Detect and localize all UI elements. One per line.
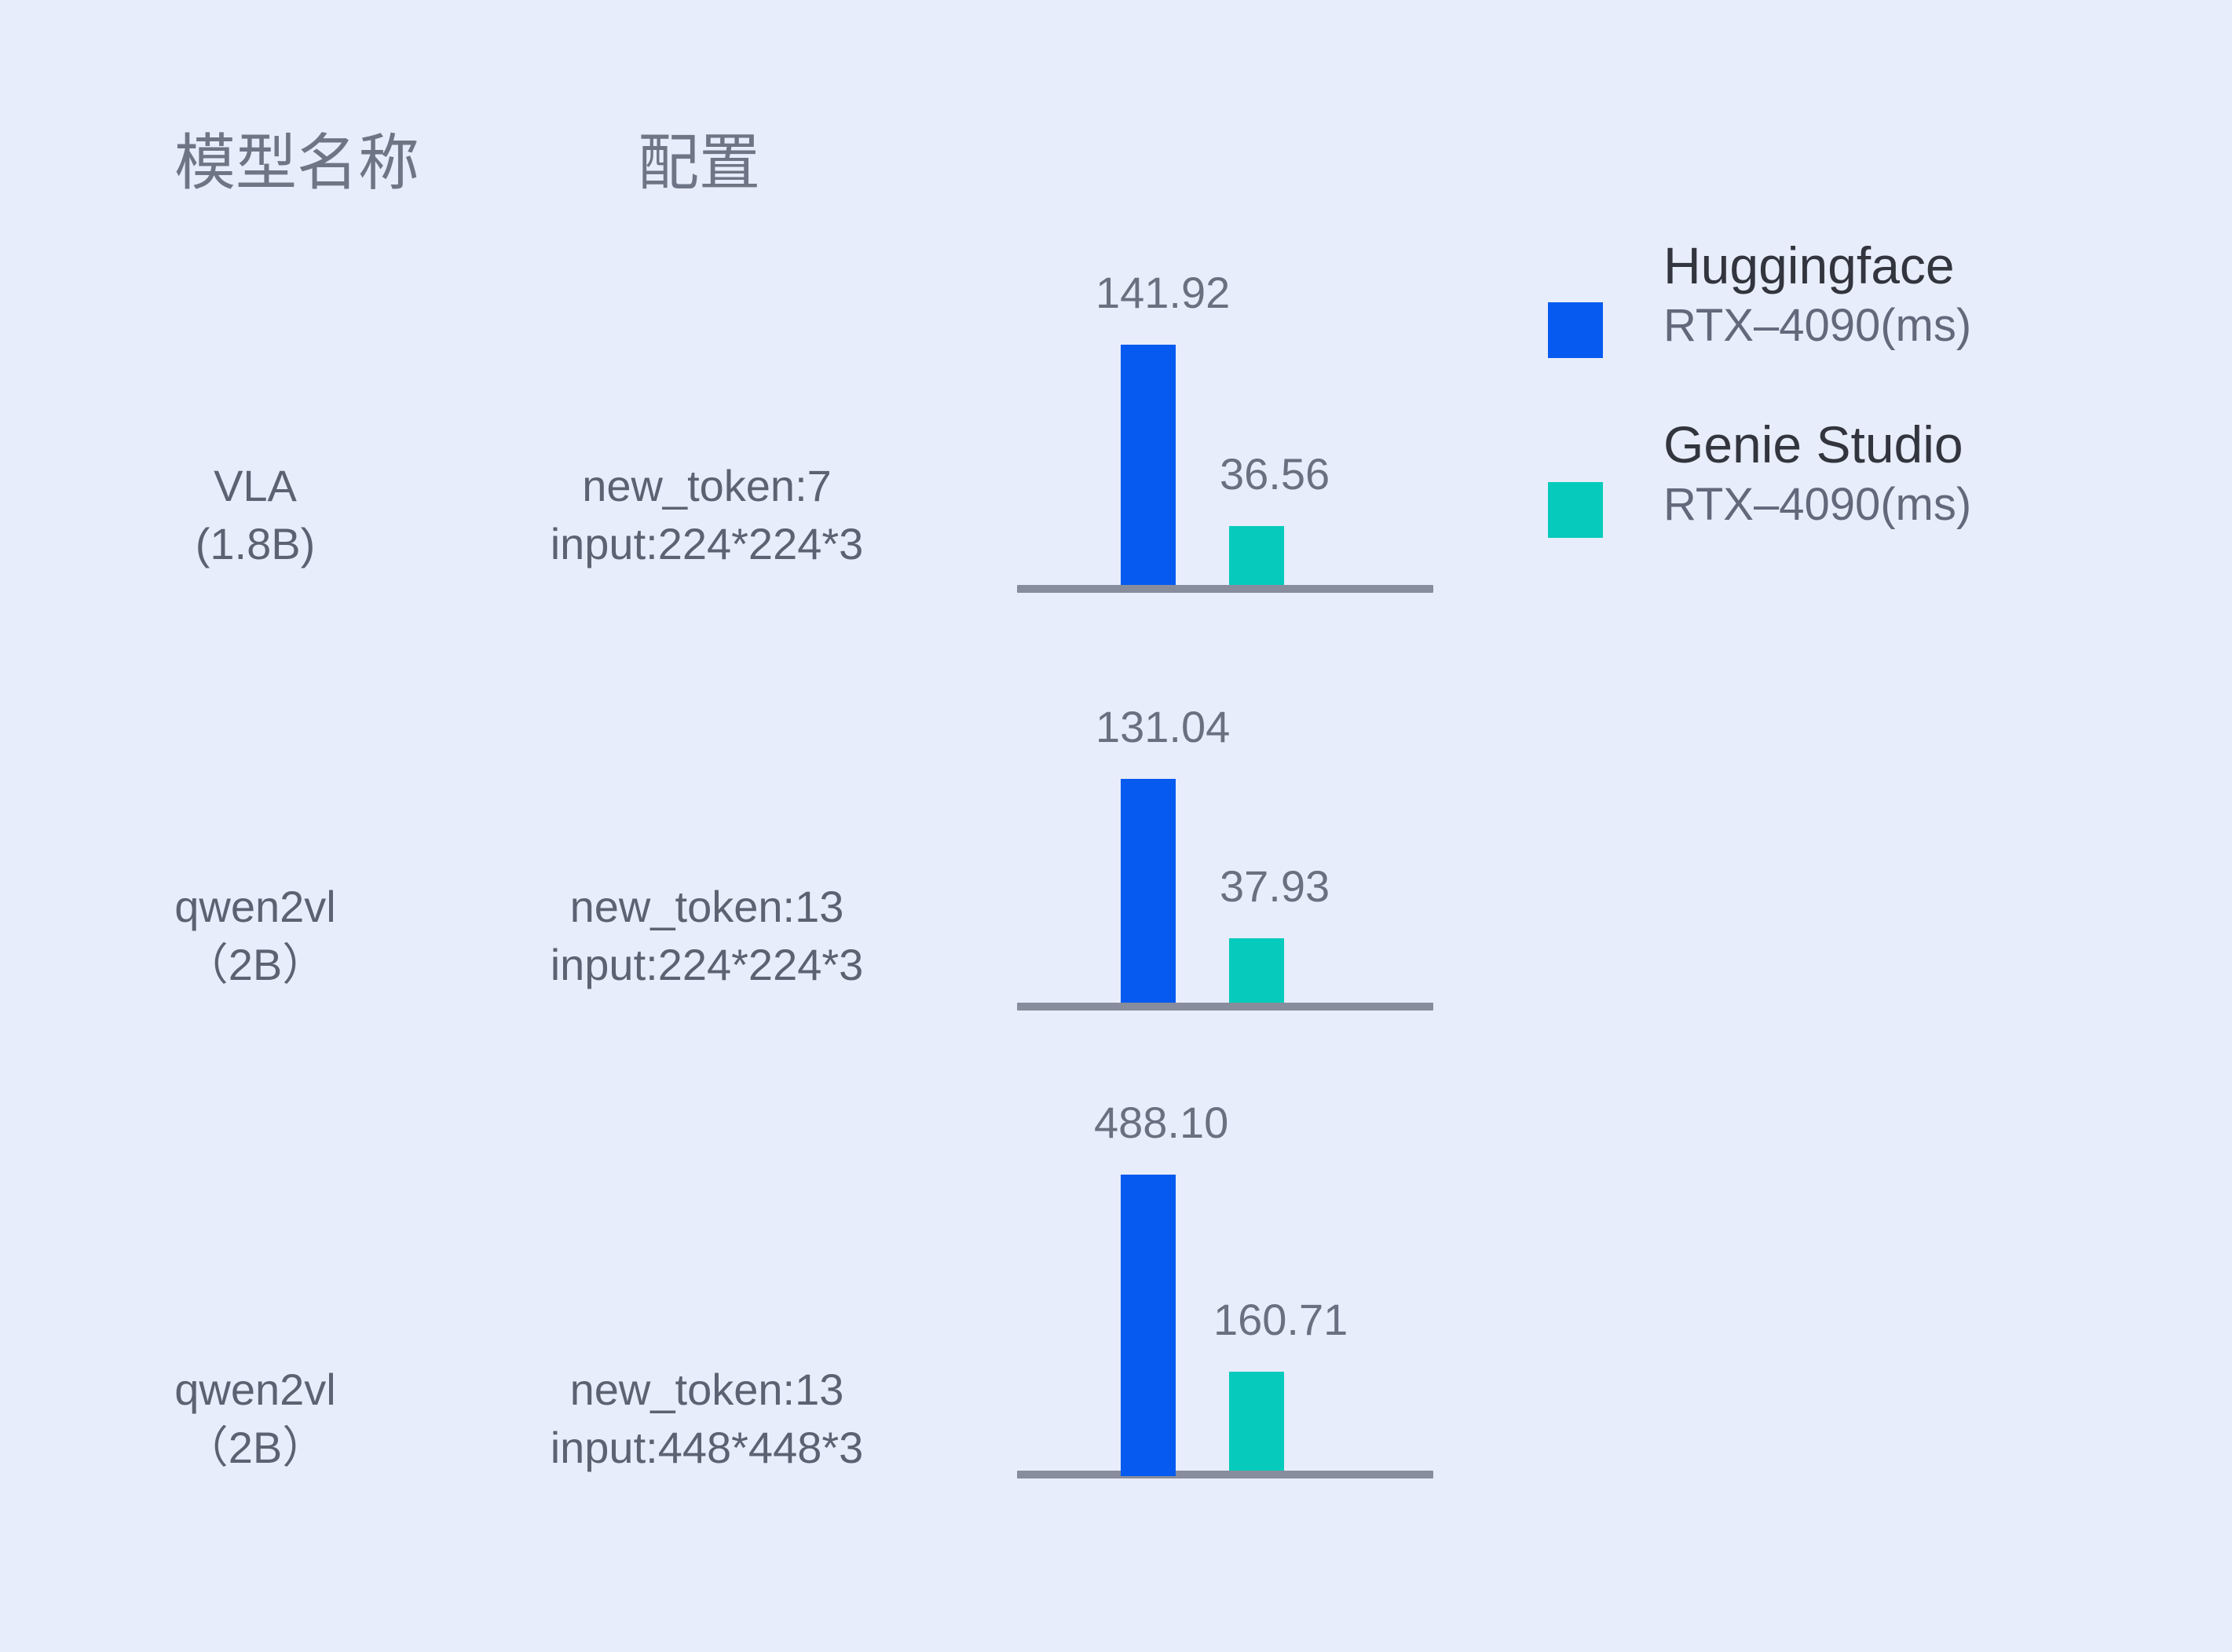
legend-title-genie-studio: Genie Studio <box>1663 415 1971 476</box>
chart-row-qwen2vl-224: qwen2vl （2B） new_token:13 input:224*224*… <box>0 653 2232 1046</box>
row-config-input: input:224*224*3 <box>479 515 935 573</box>
legend-item-genie-studio[interactable]: Genie Studio RTX–4090(ms) <box>1546 432 2142 628</box>
row-config-newtoken: new_token:13 <box>479 878 935 936</box>
row-config-label: new_token:13 input:448*448*3 <box>479 1361 935 1477</box>
column-header-model-name: 模型名称 <box>174 132 419 193</box>
legend-text-genie-studio: Genie Studio RTX–4090(ms) <box>1663 415 1971 534</box>
row-model-label: VLA (1.8B) <box>126 457 385 573</box>
legend-title-huggingface: Huggingface <box>1663 236 1971 297</box>
bar-genie-studio <box>1229 526 1284 585</box>
legend-swatch-huggingface <box>1548 302 1603 358</box>
row-model-name: VLA <box>126 457 385 515</box>
row-model-label: qwen2vl （2B） <box>126 1361 385 1477</box>
bar-value-genie-studio: 37.93 <box>1220 864 1330 908</box>
bar-value-genie-studio: 36.56 <box>1220 452 1330 496</box>
row-config-input: input:224*224*3 <box>479 936 935 994</box>
bar-huggingface <box>1121 779 1176 1003</box>
legend-text-huggingface: Huggingface RTX–4090(ms) <box>1663 236 1971 355</box>
plot-baseline <box>1017 1003 1433 1011</box>
bar-value-huggingface: 131.04 <box>1096 705 1230 749</box>
bar-genie-studio <box>1229 938 1284 1003</box>
row-model-name: qwen2vl <box>126 878 385 936</box>
row-model-label: qwen2vl （2B） <box>126 878 385 994</box>
row-model-size: （2B） <box>126 1419 385 1477</box>
plot-baseline <box>1017 585 1433 593</box>
bar-plot: 488.10 160.71 <box>1017 1090 1433 1514</box>
plot-baseline <box>1017 1471 1433 1478</box>
chart-legend: Huggingface RTX–4090(ms) Genie Studio RT… <box>1546 236 2142 628</box>
legend-item-huggingface[interactable]: Huggingface RTX–4090(ms) <box>1546 236 2142 432</box>
row-config-label: new_token:13 input:224*224*3 <box>479 878 935 994</box>
bar-plot: 141.92 36.56 <box>1017 236 1433 628</box>
row-config-newtoken: new_token:7 <box>479 457 935 515</box>
bar-plot: 131.04 37.93 <box>1017 653 1433 1046</box>
legend-subtitle-genie-studio: RTX–4090(ms) <box>1663 476 1971 534</box>
row-model-name: qwen2vl <box>126 1361 385 1419</box>
row-config-input: input:448*448*3 <box>479 1419 935 1477</box>
column-header-config: 配置 <box>638 132 760 193</box>
bar-value-genie-studio: 160.71 <box>1213 1298 1348 1342</box>
bar-value-huggingface: 488.10 <box>1094 1101 1228 1145</box>
bar-huggingface <box>1121 345 1176 585</box>
legend-swatch-genie-studio <box>1548 482 1603 538</box>
chart-row-qwen2vl-448: qwen2vl （2B） new_token:13 input:448*448*… <box>0 1090 2232 1514</box>
row-model-size: （2B） <box>126 936 385 994</box>
bar-genie-studio <box>1229 1372 1284 1471</box>
bar-huggingface <box>1121 1175 1176 1476</box>
row-config-newtoken: new_token:13 <box>479 1361 935 1419</box>
row-config-label: new_token:7 input:224*224*3 <box>479 457 935 573</box>
row-model-size: (1.8B) <box>126 515 385 573</box>
bar-value-huggingface: 141.92 <box>1096 271 1230 315</box>
chart-canvas: 模型名称 配置 VLA (1.8B) new_token:7 input:224… <box>0 0 2232 1652</box>
legend-subtitle-huggingface: RTX–4090(ms) <box>1663 297 1971 355</box>
